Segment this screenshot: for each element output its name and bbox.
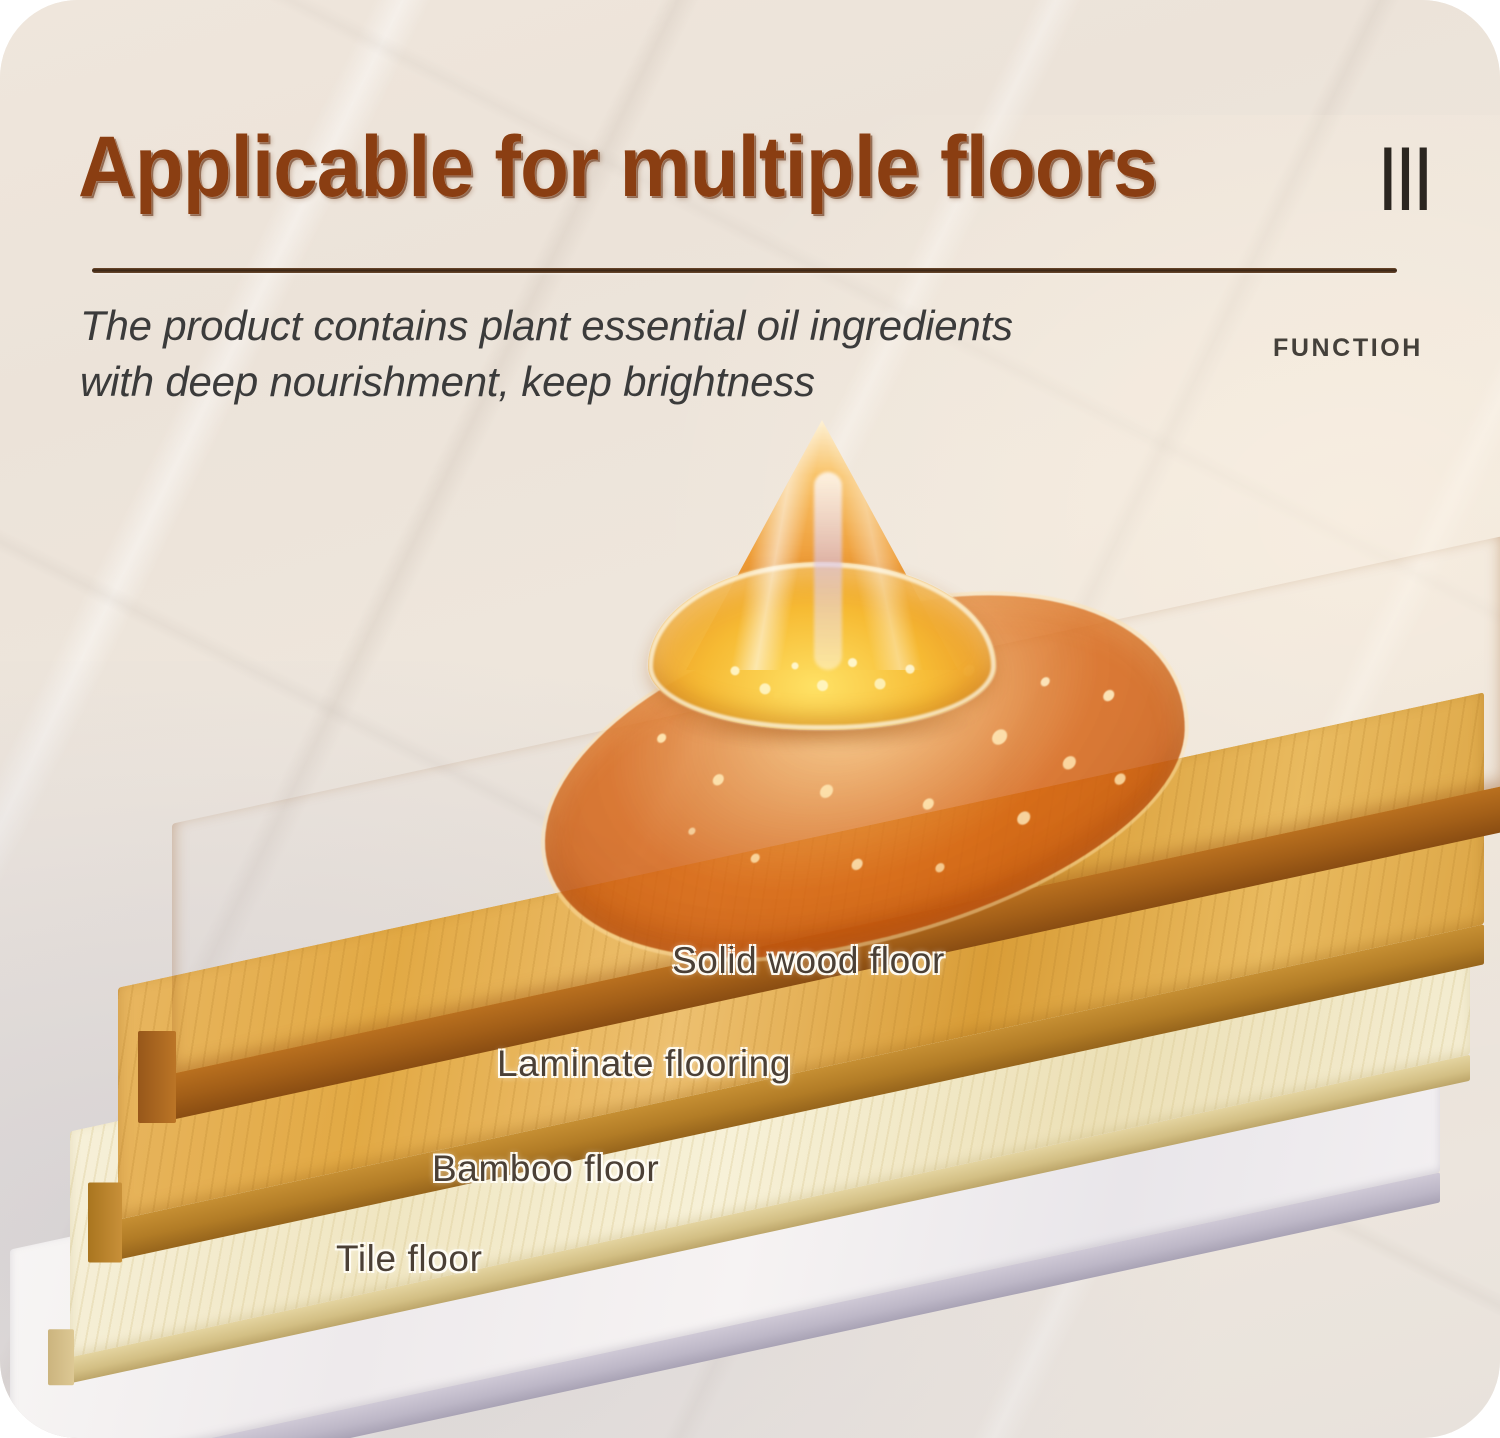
oil-droplet-cone <box>648 420 996 730</box>
plank-solid-left-edge <box>138 1031 176 1123</box>
label-tile-floor: Tile floor <box>336 1238 483 1280</box>
plank-laminate-left-edge <box>88 1182 122 1262</box>
label-laminate-flooring: Laminate flooring <box>497 1043 791 1085</box>
floor-plank-stack: Solid wood floor Laminate flooring Bambo… <box>0 0 1500 1438</box>
plank-bamboo-left-edge <box>48 1329 74 1385</box>
product-feature-poster: Applicable for multiple floors ||| The p… <box>0 0 1500 1438</box>
label-bamboo-floor: Bamboo floor <box>432 1148 659 1190</box>
droplet-gloss-highlight <box>686 420 958 670</box>
label-solid-wood-floor: Solid wood floor <box>672 940 945 982</box>
